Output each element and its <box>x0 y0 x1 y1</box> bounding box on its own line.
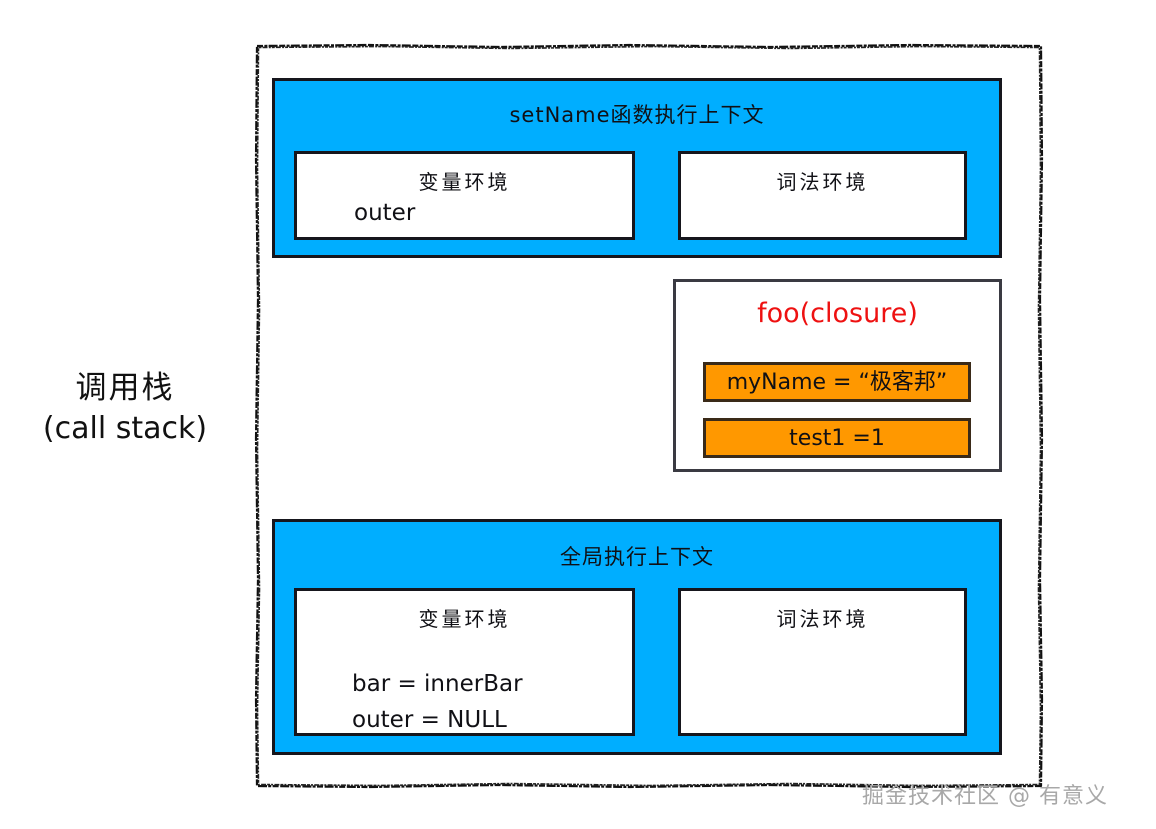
global-variable-environment-title: 变量环境 <box>297 603 632 632</box>
call-stack-label-cn: 调用栈 <box>0 368 250 409</box>
watermark: 掘金技术社区 @ 有意义 <box>862 778 1108 810</box>
call-stack-frame: setName函数执行上下文 变量环境 outer 词法环境 foo(closu… <box>256 45 1043 787</box>
execution-context-setname: setName函数执行上下文 变量环境 outer 词法环境 <box>272 78 1002 258</box>
execution-context-global-title: 全局执行上下文 <box>275 541 999 571</box>
closure-variable-test1: test1 =1 <box>703 418 971 458</box>
global-variable-entry-bar: bar = innerBar <box>352 671 523 697</box>
call-stack-label-en: (call stack) <box>0 409 250 449</box>
setname-lexical-environment: 词法环境 <box>678 151 967 240</box>
setname-lexical-environment-title: 词法环境 <box>681 166 964 195</box>
global-lexical-environment: 词法环境 <box>678 588 967 736</box>
global-variable-environment: 变量环境 bar = innerBar outer = NULL <box>294 588 635 736</box>
setname-variable-entry: outer <box>354 200 415 226</box>
closure-box: foo(closure) myName = “极客邦” test1 =1 <box>673 279 1002 472</box>
execution-context-global: 全局执行上下文 变量环境 bar = innerBar outer = NULL… <box>272 519 1002 755</box>
call-stack-label: 调用栈 (call stack) <box>0 368 250 449</box>
setname-variable-environment: 变量环境 outer <box>294 151 635 240</box>
execution-context-setname-title: setName函数执行上下文 <box>275 99 999 129</box>
closure-variable-myname: myName = “极客邦” <box>703 362 971 402</box>
global-lexical-environment-title: 词法环境 <box>681 603 964 632</box>
global-variable-entry-outer: outer = NULL <box>352 707 507 733</box>
closure-title: foo(closure) <box>676 298 999 329</box>
setname-variable-environment-title: 变量环境 <box>297 166 632 195</box>
